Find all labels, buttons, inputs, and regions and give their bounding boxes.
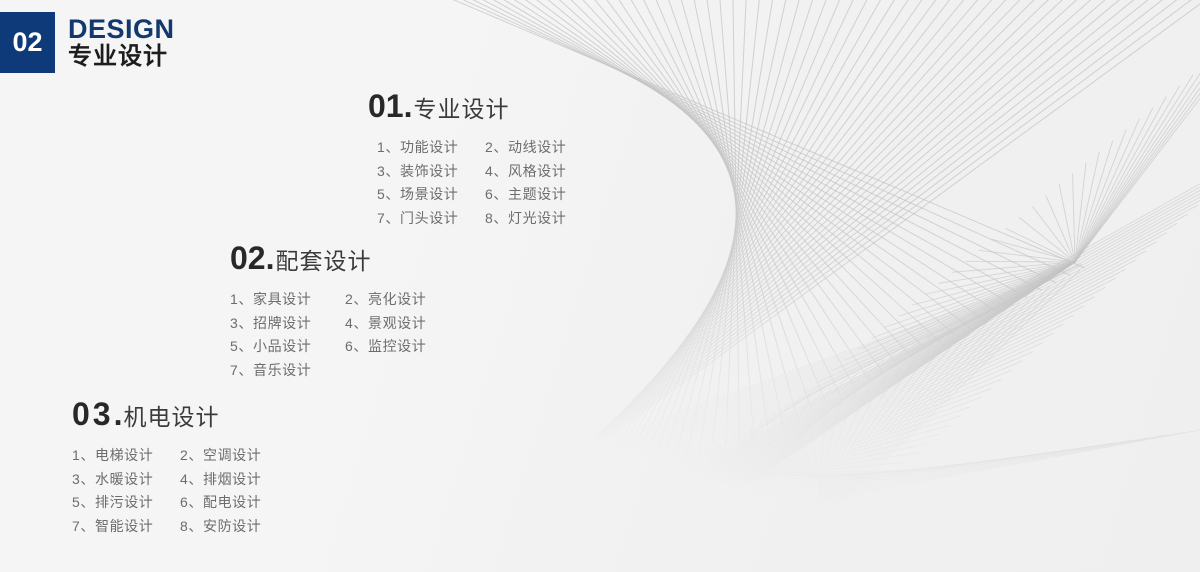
list-item: 3、水暖设计 (72, 468, 180, 492)
list-item: 1、功能设计 (377, 136, 485, 160)
section-number: 02 (230, 240, 266, 276)
slide-canvas: 02 DESIGN 专业设计 01.专业设计 1、功能设计 2、动线设计 3、装… (0, 0, 1200, 572)
list-row: 3、招牌设计 4、景观设计 (230, 312, 460, 336)
header-title-english: DESIGN (68, 15, 175, 43)
list-row: 5、小品设计 6、监控设计 (230, 335, 460, 359)
list-item: 5、排污设计 (72, 491, 180, 515)
list-row: 7、智能设计 8、安防设计 (72, 515, 261, 539)
list-row: 7、门头设计 8、灯光设计 (377, 207, 566, 231)
section-number: 01 (368, 88, 404, 124)
section-item-list: 1、功能设计 2、动线设计 3、装饰设计 4、风格设计 5、场景设计 6、主题设… (368, 136, 566, 230)
section-item-list: 1、电梯设计 2、空调设计 3、水暖设计 4、排烟设计 5、排污设计 6、配电设… (72, 444, 261, 538)
badge-number-text: 02 (12, 29, 42, 56)
list-row: 5、场景设计 6、主题设计 (377, 183, 566, 207)
section-block-02: 02.配套设计 1、家具设计 2、亮化设计 3、招牌设计 4、景观设计 5、小品… (230, 242, 460, 382)
list-row: 5、排污设计 6、配电设计 (72, 491, 261, 515)
section-block-03: 03.机电设计 1、电梯设计 2、空调设计 3、水暖设计 4、排烟设计 5、排污… (72, 398, 261, 538)
list-item (345, 359, 460, 383)
list-item: 8、灯光设计 (485, 207, 566, 231)
list-row: 3、装饰设计 4、风格设计 (377, 160, 566, 184)
list-item: 1、家具设计 (230, 288, 345, 312)
header-title-chinese: 专业设计 (68, 44, 175, 70)
section-dot: . (114, 396, 123, 432)
list-item: 6、主题设计 (485, 183, 566, 207)
list-item: 6、配电设计 (180, 491, 261, 515)
list-item: 5、小品设计 (230, 335, 345, 359)
list-row: 3、水暖设计 4、排烟设计 (72, 468, 261, 492)
section-number-badge: 02 (0, 12, 55, 73)
section-block-01: 01.专业设计 1、功能设计 2、动线设计 3、装饰设计 4、风格设计 5、场景… (368, 90, 566, 230)
list-item: 8、安防设计 (180, 515, 261, 539)
section-title: 专业设计 (413, 96, 509, 122)
slide-header: 02 DESIGN 专业设计 (0, 12, 175, 73)
list-item: 3、招牌设计 (230, 312, 345, 336)
list-row: 1、功能设计 2、动线设计 (377, 136, 566, 160)
list-item: 4、排烟设计 (180, 468, 261, 492)
section-number: 03 (72, 396, 114, 432)
list-item: 2、空调设计 (180, 444, 261, 468)
list-item: 5、场景设计 (377, 183, 485, 207)
section-heading: 01.专业设计 (368, 90, 566, 122)
list-item: 4、风格设计 (485, 160, 566, 184)
list-row: 7、音乐设计 (230, 359, 460, 383)
list-item: 2、亮化设计 (345, 288, 460, 312)
list-item: 6、监控设计 (345, 335, 460, 359)
section-dot: . (266, 240, 275, 276)
section-title: 机电设计 (123, 404, 219, 430)
list-item: 4、景观设计 (345, 312, 460, 336)
list-item: 7、门头设计 (377, 207, 485, 231)
list-item: 1、电梯设计 (72, 444, 180, 468)
list-row: 1、家具设计 2、亮化设计 (230, 288, 460, 312)
header-text-block: DESIGN 专业设计 (68, 12, 175, 73)
section-dot: . (404, 88, 413, 124)
section-heading: 02.配套设计 (230, 242, 460, 274)
list-item: 7、音乐设计 (230, 359, 345, 383)
section-item-list: 1、家具设计 2、亮化设计 3、招牌设计 4、景观设计 5、小品设计 6、监控设… (230, 288, 460, 382)
list-item: 3、装饰设计 (377, 160, 485, 184)
section-title: 配套设计 (275, 248, 371, 274)
list-row: 1、电梯设计 2、空调设计 (72, 444, 261, 468)
list-item: 7、智能设计 (72, 515, 180, 539)
section-heading: 03.机电设计 (72, 398, 261, 430)
list-item: 2、动线设计 (485, 136, 566, 160)
